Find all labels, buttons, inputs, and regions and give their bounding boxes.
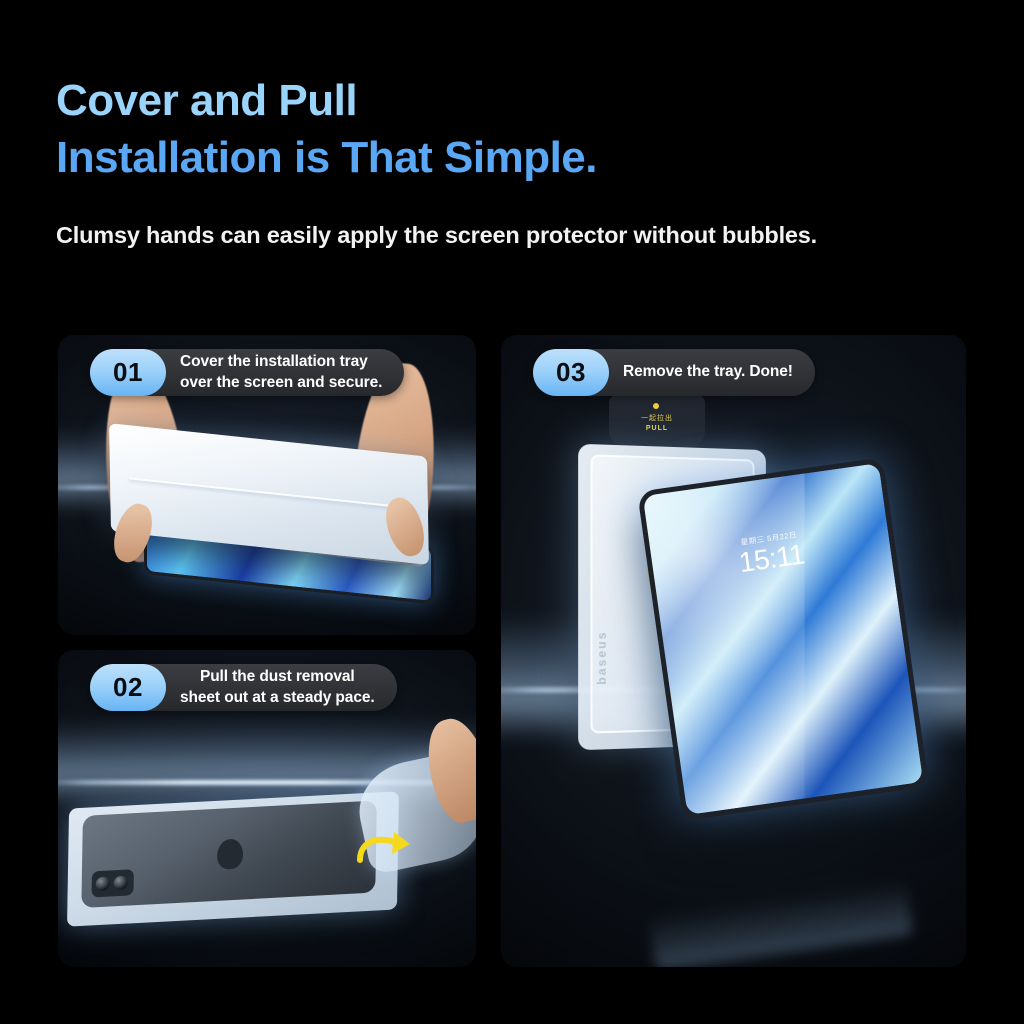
page-subtitle: Clumsy hands can easily apply the screen…: [56, 222, 976, 249]
step-03-illustration: 一起拉出 PULL baseus 星期三 5月22日 15:11: [501, 335, 966, 967]
header: Cover and Pull Installation is That Simp…: [56, 72, 976, 249]
step-label-wrap-02: 02 Pull the dust removal sheet out at a …: [90, 664, 397, 711]
step-panel-02: 02 Pull the dust removal sheet out at a …: [58, 650, 476, 967]
pull-tab-dot-icon: [653, 403, 659, 409]
step-number-01: 01: [90, 349, 166, 396]
step-badge-01[interactable]: 01 Cover the installation tray over the …: [90, 349, 404, 396]
step-label-wrap-01: 01 Cover the installation tray over the …: [90, 349, 404, 396]
step-number-02: 02: [90, 664, 166, 711]
tablet-reflection: [648, 879, 913, 967]
step-badge-02[interactable]: 02 Pull the dust removal sheet out at a …: [90, 664, 397, 711]
pull-tab-cn-text: 一起拉出: [609, 413, 705, 423]
tablet-back: [81, 800, 377, 908]
step-description-01: Cover the installation tray over the scr…: [180, 352, 382, 392]
pull-tab: 一起拉出 PULL: [609, 395, 705, 447]
pull-tab-en-text: PULL: [609, 425, 705, 432]
headline-line-1: Cover and Pull: [56, 72, 976, 129]
tray-brand-label: baseus: [595, 630, 609, 684]
headline-line-2: Installation is That Simple.: [56, 129, 976, 186]
tablet-device: 星期三 5月22日 15:11: [637, 457, 929, 820]
step-number-03: 03: [533, 349, 609, 396]
step-panel-03: 一起拉出 PULL baseus 星期三 5月22日 15:11: [501, 335, 966, 967]
step-description-03: Remove the tray. Done!: [623, 362, 793, 382]
steps-gallery: 01 Cover the installation tray over the …: [58, 335, 966, 967]
page-title: Cover and Pull Installation is That Simp…: [56, 72, 976, 186]
screen-glare: [637, 457, 804, 820]
step-description-02: Pull the dust removal sheet out at a ste…: [180, 667, 375, 707]
step-badge-03[interactable]: 03 Remove the tray. Done!: [533, 349, 815, 396]
step-panel-01: 01 Cover the installation tray over the …: [58, 335, 476, 635]
apple-logo-icon: [217, 839, 244, 870]
camera-module-icon: [91, 869, 133, 897]
pull-direction-arrow-icon: [350, 830, 424, 870]
step-label-wrap-03: 03 Remove the tray. Done!: [533, 349, 815, 396]
